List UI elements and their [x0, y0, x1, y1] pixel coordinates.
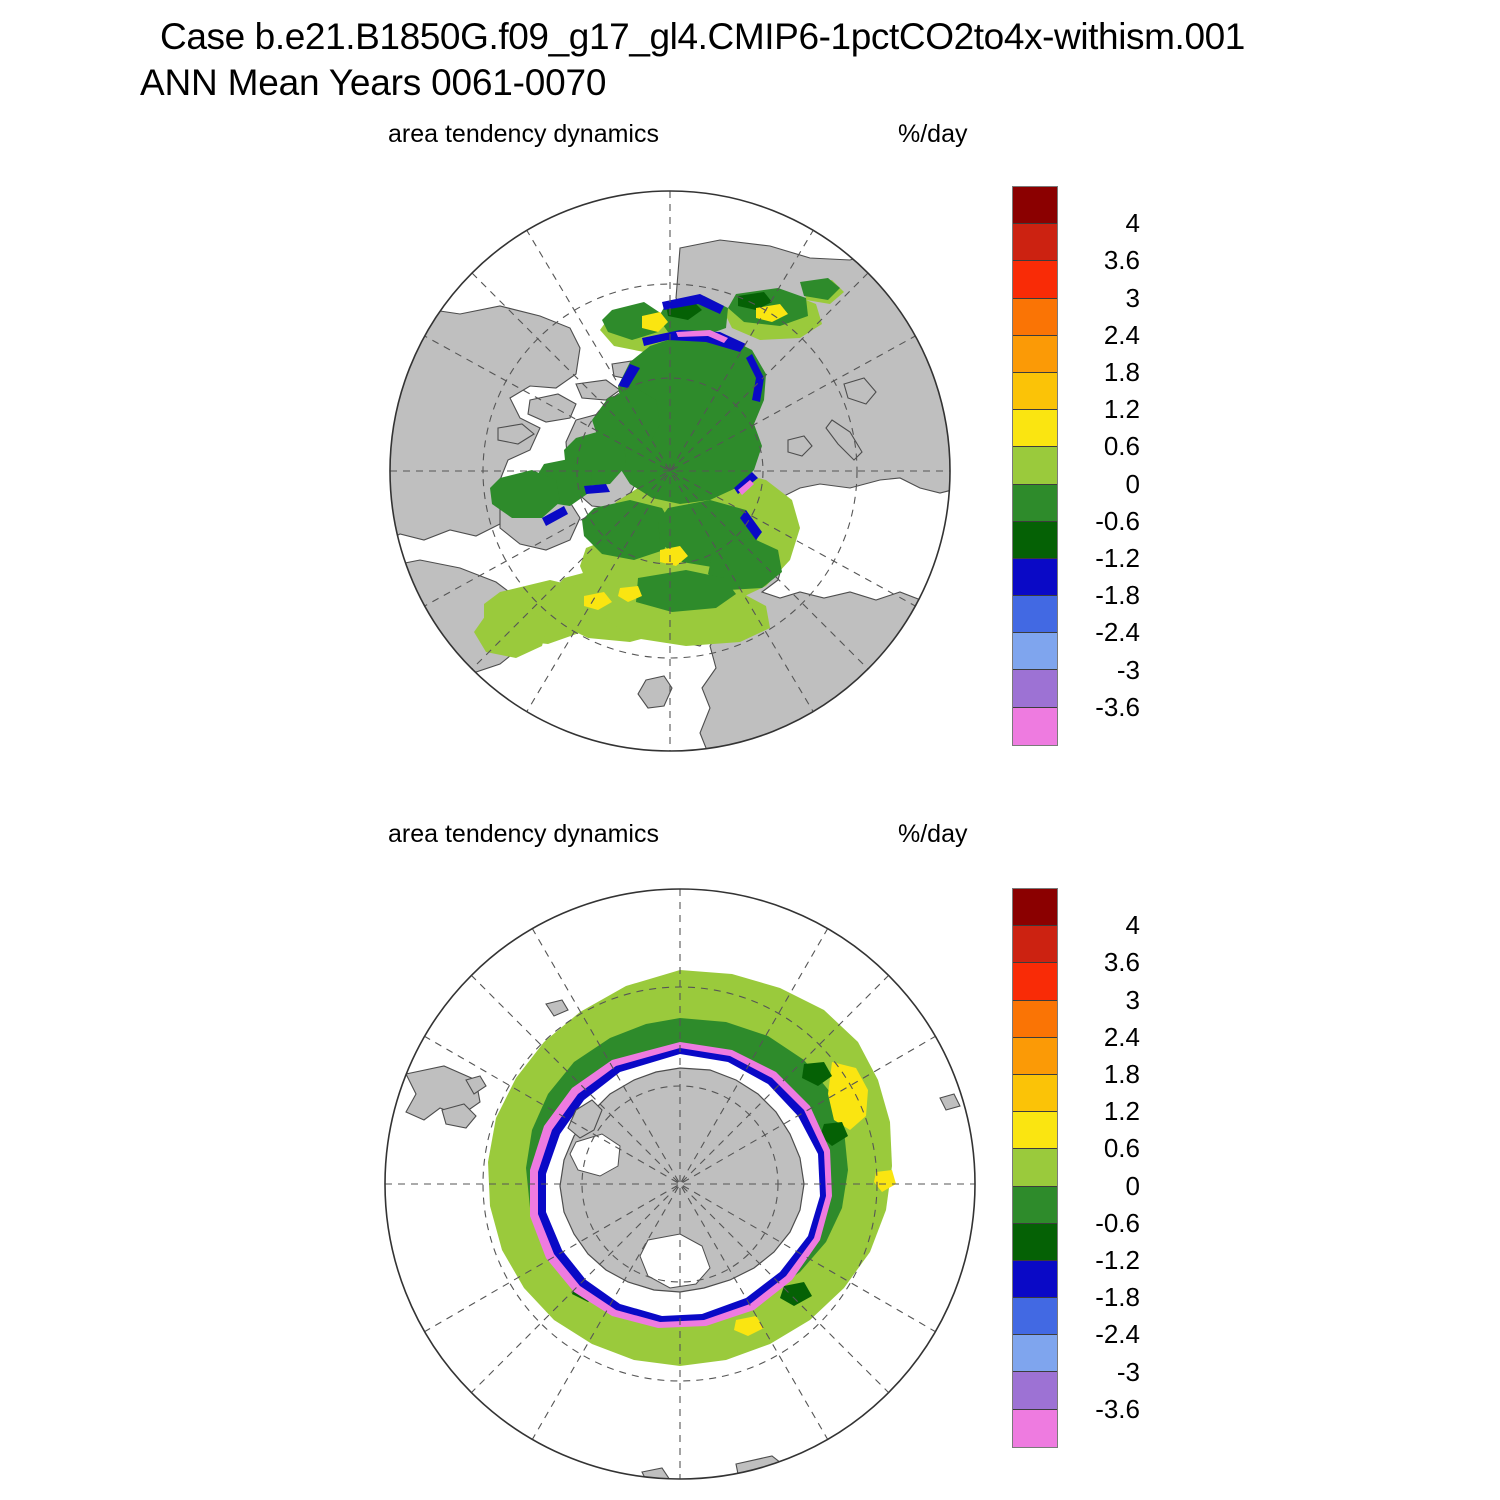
colorbar-band-12: [1013, 633, 1057, 670]
colorbar-band-1: [1013, 224, 1057, 261]
colorbar-tick-label: 3: [1068, 987, 1140, 1013]
colorbar-tick-label: 2.4: [1068, 1024, 1140, 1050]
panel-antarctic: area tendency dynamics %/day: [0, 800, 1500, 1500]
colorbar-tick-label: -3: [1068, 1359, 1140, 1385]
colorbar-band-8: [1013, 1187, 1057, 1224]
antarctic-map-svg: [380, 884, 980, 1484]
colorbar-tick-label: -2.4: [1068, 619, 1140, 645]
colorbar-band-11: [1013, 1298, 1057, 1335]
colorbar-band-13: [1013, 1372, 1057, 1409]
colorbar-tick-label: -1.8: [1068, 582, 1140, 608]
colorbar-band-2: [1013, 261, 1057, 298]
colorbar-band-3: [1013, 1001, 1057, 1038]
colorbar-tick-label: 4: [1068, 210, 1140, 236]
colorbar-tick-label: 4: [1068, 912, 1140, 938]
colorbar-tick-label: -1.8: [1068, 1284, 1140, 1310]
colorbar-band-5: [1013, 1075, 1057, 1112]
colorbar-tick-label: 2.4: [1068, 322, 1140, 348]
colorbar-band-9: [1013, 1224, 1057, 1261]
colorbar-tick-label: 3.6: [1068, 247, 1140, 273]
colorbar-band-5: [1013, 373, 1057, 410]
colorbar-band-6: [1013, 410, 1057, 447]
colorbar-band-8: [1013, 485, 1057, 522]
colorbar-tick-label: -3.6: [1068, 1396, 1140, 1422]
arctic-map-svg: [380, 188, 960, 758]
colorbar-band-6: [1013, 1112, 1057, 1149]
colorbar-tick-label: 3: [1068, 285, 1140, 311]
colorbar-tick-label: -1.2: [1068, 545, 1140, 571]
colorbar-band-1: [1013, 926, 1057, 963]
colorbar-tick-label: -0.6: [1068, 1210, 1140, 1236]
colorbar-tick-label: 1.8: [1068, 1061, 1140, 1087]
colorbar-band-13: [1013, 670, 1057, 707]
colorbar-tick-label: 1.8: [1068, 359, 1140, 385]
colorbar-tick-label: -1.2: [1068, 1247, 1140, 1273]
antarctic-colorbar-labels: 43.632.41.81.20.60-0.6-1.2-1.8-2.4-3-3.6: [1068, 888, 1178, 1446]
colorbar-band-9: [1013, 522, 1057, 559]
antarctic-map[interactable]: [380, 884, 980, 1484]
arctic-colorbar-labels: 43.632.41.81.20.60-0.6-1.2-1.8-2.4-3-3.6: [1068, 186, 1178, 744]
colorbar-tick-label: 0.6: [1068, 433, 1140, 459]
colorbar-band-3: [1013, 299, 1057, 336]
colorbar-band-11: [1013, 596, 1057, 633]
antarctic-units-label: %/day: [898, 820, 967, 849]
colorbar-band-2: [1013, 963, 1057, 1000]
arctic-field-label: area tendency dynamics: [388, 120, 659, 149]
colorbar-band-7: [1013, 1149, 1057, 1186]
colorbar-tick-label: -0.6: [1068, 508, 1140, 534]
colorbar-tick-label: 3.6: [1068, 949, 1140, 975]
colorbar-tick-label: 0: [1068, 1173, 1140, 1199]
antarctic-colorbar[interactable]: [1012, 888, 1058, 1448]
colorbar-tick-label: -3: [1068, 657, 1140, 683]
colorbar-band-0: [1013, 889, 1057, 926]
antarctic-field-label: area tendency dynamics: [388, 820, 659, 849]
colorbar-band-10: [1013, 1261, 1057, 1298]
colorbar-band-10: [1013, 559, 1057, 596]
colorbar-tick-label: 0.6: [1068, 1135, 1140, 1161]
colorbar-tick-label: -2.4: [1068, 1321, 1140, 1347]
panel-arctic: area tendency dynamics %/day: [0, 0, 1500, 800]
colorbar-band-14: [1013, 1410, 1057, 1447]
arctic-units-label: %/day: [898, 120, 967, 149]
colorbar-band-12: [1013, 1335, 1057, 1372]
colorbar-band-4: [1013, 336, 1057, 373]
colorbar-band-7: [1013, 447, 1057, 484]
arctic-colorbar[interactable]: [1012, 186, 1058, 746]
colorbar-band-14: [1013, 708, 1057, 745]
colorbar-tick-label: 1.2: [1068, 396, 1140, 422]
colorbar-tick-label: 0: [1068, 471, 1140, 497]
colorbar-tick-label: 1.2: [1068, 1098, 1140, 1124]
arctic-map[interactable]: [380, 188, 960, 758]
colorbar-band-0: [1013, 187, 1057, 224]
colorbar-band-4: [1013, 1038, 1057, 1075]
colorbar-tick-label: -3.6: [1068, 694, 1140, 720]
